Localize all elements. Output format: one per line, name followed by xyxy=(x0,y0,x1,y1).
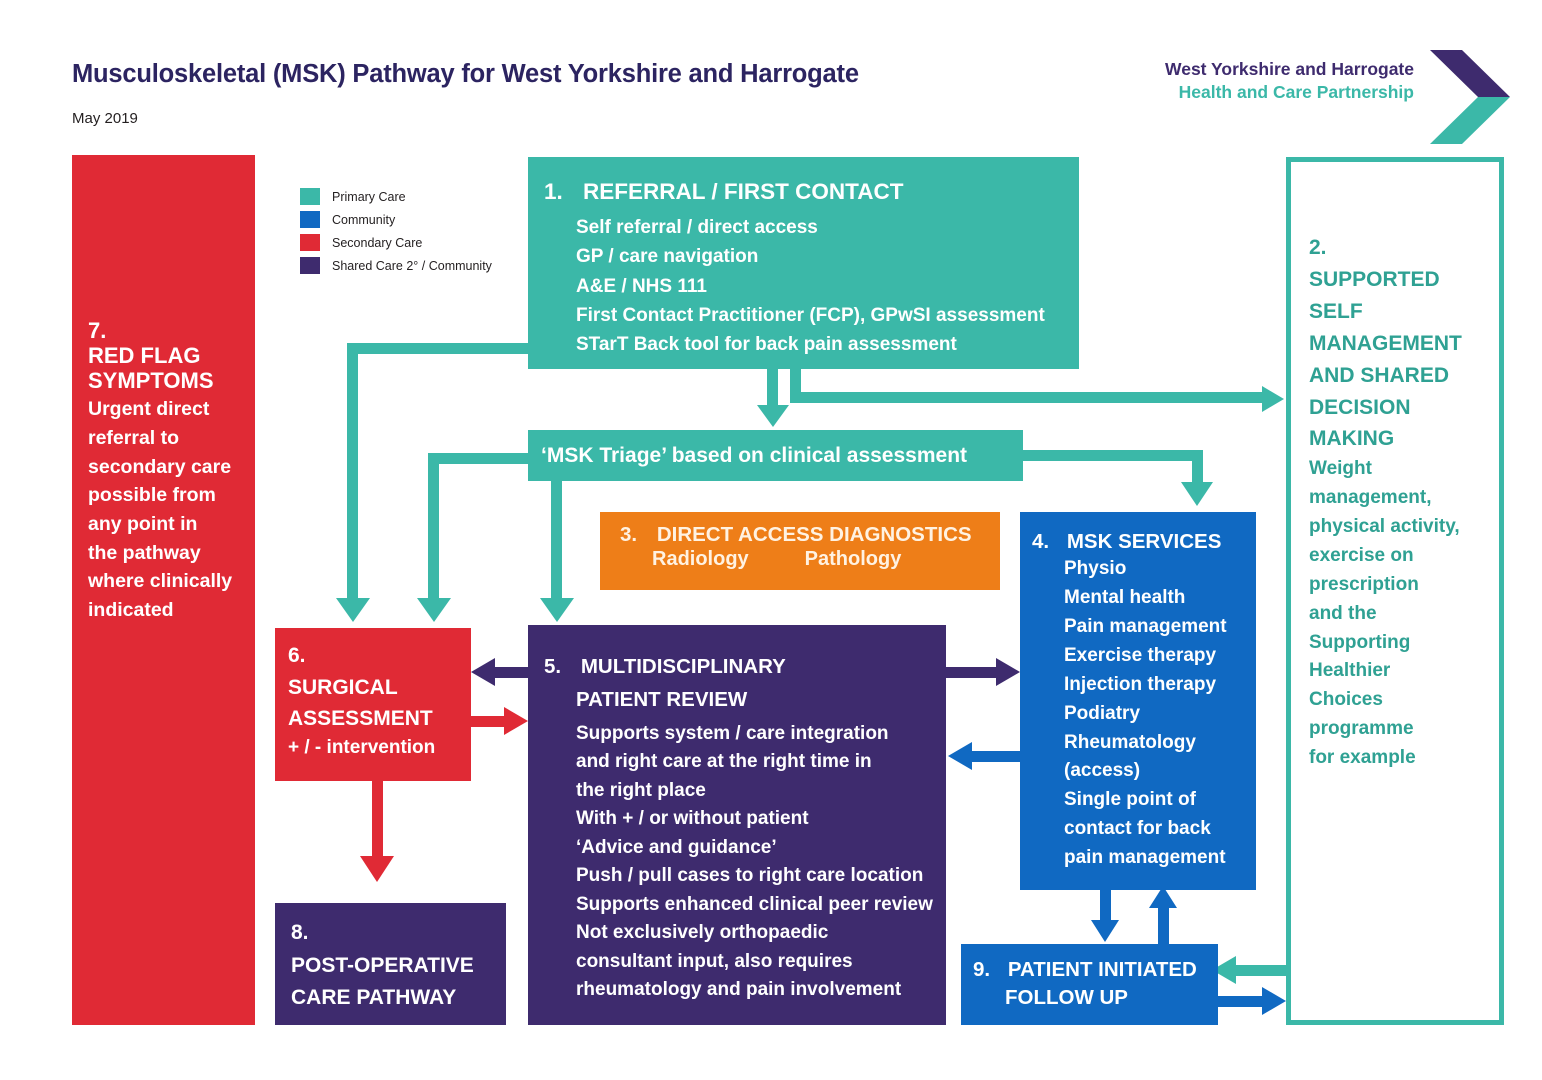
chevron-logo-icon xyxy=(1418,42,1518,152)
box-1-line: STarT Back tool for back pain assessment xyxy=(576,330,1079,359)
logo-line-2: Health and Care Partnership xyxy=(1179,82,1414,103)
logo-line-1: West Yorkshire and Harrogate xyxy=(1165,59,1414,80)
box-9-title-line-1: PATIENT INITIATED xyxy=(1008,958,1197,981)
box-2-body-line: management, xyxy=(1309,484,1489,513)
box-3-item-radiology: Radiology xyxy=(652,548,749,570)
box-4-number: 4. xyxy=(1032,530,1049,553)
box-7-body-line: the pathway xyxy=(88,539,255,568)
box-7-title-line-1: RED FLAG xyxy=(88,343,255,368)
box-2-title-line: SELF xyxy=(1309,296,1489,328)
box-1-line: First Contact Practitioner (FCP), GPwSI … xyxy=(576,301,1079,330)
box-8-post-operative-care-pathway: 8. POST-OPERATIVE CARE PATHWAY xyxy=(275,903,506,1025)
box-2-supported-self-management: 2. SUPPORTED SELF MANAGEMENT AND SHARED … xyxy=(1286,157,1504,1025)
box-7-body-line: secondary care xyxy=(88,453,255,482)
box-5-line: With + / or without patient xyxy=(576,805,946,834)
box-8-title-line-2: CARE PATHWAY xyxy=(291,982,506,1015)
box-2-title-line: MAKING xyxy=(1309,423,1489,455)
box-3-direct-access-diagnostics: 3. DIRECT ACCESS DIAGNOSTICS RadiologyPa… xyxy=(600,512,1000,590)
box-6-surgical-assessment: 6. SURGICAL ASSESSMENT + / - interventio… xyxy=(275,628,471,781)
pathway-diagram: Musculoskeletal (MSK) Pathway for West Y… xyxy=(0,0,1542,1080)
legend-label: Community xyxy=(332,213,395,227)
box-9-title-line-2: FOLLOW UP xyxy=(973,984,1218,1012)
box-1-line: GP / care navigation xyxy=(576,242,1079,271)
box-5-heading: 5. MULTIDISCIPLINARY PATIENT REVIEW xyxy=(544,651,946,717)
box-5-line: consultant input, also requires xyxy=(576,948,946,977)
box-9-heading: 9. PATIENT INITIATED FOLLOW UP xyxy=(973,956,1218,1011)
legend-label: Shared Care 2° / Community xyxy=(332,259,492,273)
box-9-number: 9. xyxy=(973,958,990,981)
box-5-line: the right place xyxy=(576,777,946,806)
box-4-line: Mental health xyxy=(1064,584,1256,613)
legend-swatch xyxy=(300,188,320,205)
box-2-body-line: physical activity, xyxy=(1309,513,1489,542)
legend-label: Primary Care xyxy=(332,190,406,204)
box-5-line: and right care at the right time in xyxy=(576,748,946,777)
page-date: May 2019 xyxy=(72,110,138,127)
box-5-line: Not exclusively orthopaedic xyxy=(576,919,946,948)
box-2-body-line: programme xyxy=(1309,715,1489,744)
partnership-logo: West Yorkshire and Harrogate Health and … xyxy=(1178,52,1518,142)
box-5-title-line-2: PATIENT REVIEW xyxy=(544,684,946,717)
box-4-line: Injection therapy xyxy=(1064,671,1256,700)
box-7-body-line: Urgent direct xyxy=(88,395,255,424)
box-9-patient-initiated-follow-up: 9. PATIENT INITIATED FOLLOW UP xyxy=(961,944,1218,1025)
box-2-body-line: Choices xyxy=(1309,686,1489,715)
box-4-line: Pain management xyxy=(1064,613,1256,642)
box-2-title-line: SUPPORTED xyxy=(1309,264,1489,296)
box-4-line: Podiatry xyxy=(1064,700,1256,729)
box-2-title-line: AND SHARED xyxy=(1309,360,1489,392)
box-3-subitems: RadiologyPathology xyxy=(620,548,1000,571)
box-7-number: 7. xyxy=(88,318,255,343)
box-1-title: REFERRAL / FIRST CONTACT xyxy=(583,179,903,204)
legend-label: Secondary Care xyxy=(332,236,422,250)
box-2-body-line: for example xyxy=(1309,744,1489,773)
box-4-msk-services: 4. MSK SERVICES Physio Mental health Pai… xyxy=(1020,512,1256,890)
box-8-number: 8. xyxy=(291,917,506,950)
box-2-body-line: Healthier xyxy=(1309,657,1489,686)
legend-swatch xyxy=(300,211,320,228)
legend-item-shared-care: Shared Care 2° / Community xyxy=(300,254,510,277)
legend-swatch xyxy=(300,257,320,274)
legend-swatch xyxy=(300,234,320,251)
box-6-number: 6. xyxy=(288,640,471,672)
box-4-line: contact for back xyxy=(1064,815,1256,844)
box-2-number: 2. xyxy=(1309,232,1489,264)
msk-triage-band: ‘MSK Triage’ based on clinical assessmen… xyxy=(528,430,1023,481)
box-1-referral-first-contact: 1. REFERRAL / FIRST CONTACT Self referra… xyxy=(528,157,1079,369)
box-2-body-line: and the xyxy=(1309,600,1489,629)
box-3-heading: 3. DIRECT ACCESS DIAGNOSTICS xyxy=(620,523,1000,546)
box-5-number: 5. xyxy=(544,655,561,678)
box-3-number: 3. xyxy=(620,523,637,546)
box-5-title-line-1: MULTIDISCIPLINARY xyxy=(581,655,786,678)
legend-item-community: Community xyxy=(300,208,510,231)
box-5-line: rheumatology and pain involvement xyxy=(576,976,946,1005)
box-7-body-line: where clinically xyxy=(88,567,255,596)
box-3-item-pathology: Pathology xyxy=(805,548,902,570)
box-4-line: Exercise therapy xyxy=(1064,642,1256,671)
box-2-body-line: exercise on xyxy=(1309,542,1489,571)
box-7-body-line: referral to xyxy=(88,424,255,453)
legend-item-primary-care: Primary Care xyxy=(300,185,510,208)
box-7-body-line: any point in xyxy=(88,510,255,539)
box-7-body-line: indicated xyxy=(88,596,255,625)
box-2-body-line: Supporting xyxy=(1309,629,1489,658)
box-2-body-line: Weight xyxy=(1309,455,1489,484)
legend: Primary Care Community Secondary Care Sh… xyxy=(300,185,510,277)
box-7-body-line: possible from xyxy=(88,481,255,510)
box-4-line: Rheumatology xyxy=(1064,729,1256,758)
box-5-line: Supports enhanced clinical peer review xyxy=(576,891,946,920)
box-7-title-line-2: SYMPTOMS xyxy=(88,368,255,393)
legend-item-secondary-care: Secondary Care xyxy=(300,231,510,254)
box-5-line: ‘Advice and guidance’ xyxy=(576,834,946,863)
box-6-title-line-2: ASSESSMENT xyxy=(288,703,471,735)
page-title: Musculoskeletal (MSK) Pathway for West Y… xyxy=(72,60,1022,89)
box-6-title-line-1: SURGICAL xyxy=(288,672,471,704)
box-8-title-line-1: POST-OPERATIVE xyxy=(291,950,506,983)
box-5-line: Supports system / care integration xyxy=(576,720,946,749)
box-1-number: 1. xyxy=(544,179,563,204)
msk-triage-label: ‘MSK Triage’ based on clinical assessmen… xyxy=(541,444,967,468)
box-7-red-flag-symptoms: 7. RED FLAG SYMPTOMS Urgent direct refer… xyxy=(72,155,255,1025)
box-4-line: (access) xyxy=(1064,757,1256,786)
box-4-heading: 4. MSK SERVICES xyxy=(1032,530,1256,553)
box-2-title-line: MANAGEMENT xyxy=(1309,328,1489,360)
box-6-subtitle: + / - intervention xyxy=(288,737,471,760)
box-1-line: A&E / NHS 111 xyxy=(576,272,1079,301)
box-1-line: Self referral / direct access xyxy=(576,213,1079,242)
box-4-title: MSK SERVICES xyxy=(1067,530,1222,553)
box-5-line: Push / pull cases to right care location xyxy=(576,862,946,891)
box-4-line: Single point of xyxy=(1064,786,1256,815)
box-4-line: pain management xyxy=(1064,844,1256,873)
box-1-heading: 1. REFERRAL / FIRST CONTACT xyxy=(544,179,1079,205)
box-2-body-line: prescription xyxy=(1309,571,1489,600)
box-2-title-line: DECISION xyxy=(1309,392,1489,424)
box-5-multidisciplinary-patient-review: 5. MULTIDISCIPLINARY PATIENT REVIEW Supp… xyxy=(528,625,946,1025)
box-3-title: DIRECT ACCESS DIAGNOSTICS xyxy=(657,523,972,546)
box-4-line: Physio xyxy=(1064,555,1256,584)
